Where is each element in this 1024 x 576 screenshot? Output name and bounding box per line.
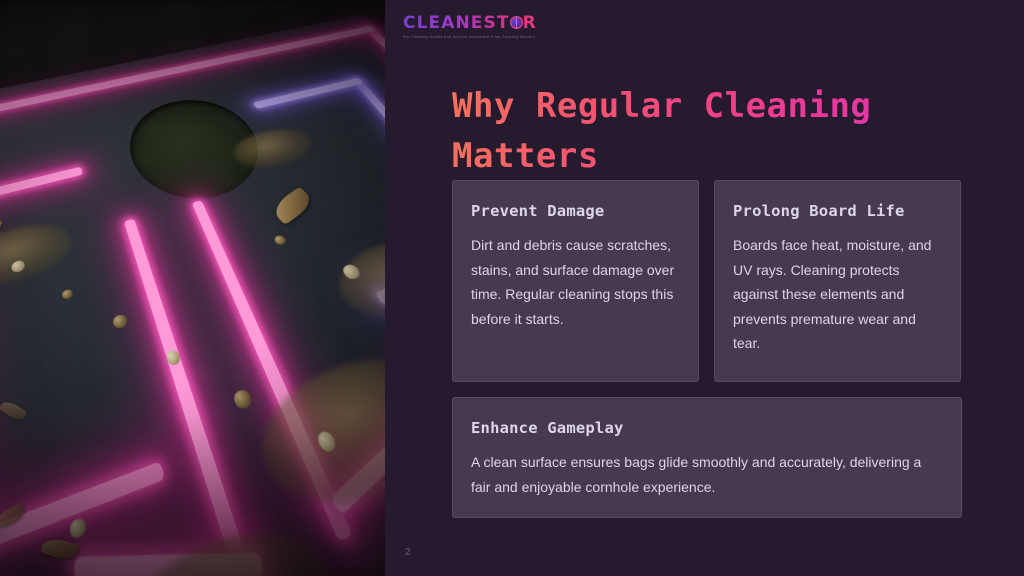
card-body: A clean surface ensures bags glide smoot… bbox=[471, 450, 943, 499]
card-prolong-board-life: Prolong Board Life Boards face heat, moi… bbox=[714, 180, 961, 382]
brand-tagline: Pro Cleaning Guides And Service Journali… bbox=[403, 35, 563, 39]
page-number: 2 bbox=[405, 547, 411, 558]
photo-cornhole-board bbox=[0, 14, 385, 576]
page-title: Why Regular Cleaning Matters bbox=[452, 81, 922, 181]
brand-logo-text-before: CLEANEST bbox=[403, 13, 510, 33]
photo-debris-speck bbox=[112, 313, 129, 330]
neon-strip-inner-right-top bbox=[253, 78, 364, 109]
content-panel: CLEANESTR Pro Cleaning Guides And Servic… bbox=[385, 0, 1024, 576]
card-heading: Prevent Damage bbox=[471, 201, 680, 221]
cards-row: Prevent Damage Dirt and debris cause scr… bbox=[452, 180, 962, 382]
photo-dirt-pile bbox=[0, 215, 77, 297]
card-body: Boards face heat, moisture, and UV rays.… bbox=[733, 233, 942, 356]
photo-debris-speck bbox=[69, 516, 88, 540]
slide: CLEANESTR Pro Cleaning Guides And Servic… bbox=[0, 0, 1024, 576]
card-prevent-damage: Prevent Damage Dirt and debris cause scr… bbox=[452, 180, 699, 382]
photo-leaf bbox=[269, 187, 317, 225]
neon-strip-inner-right-vertical bbox=[351, 78, 385, 260]
globe-icon bbox=[510, 16, 523, 29]
neon-strip-inner-left-bottom bbox=[0, 461, 165, 564]
photo-debris-speck bbox=[232, 388, 254, 411]
card-enhance-gameplay: Enhance Gameplay A clean surface ensures… bbox=[452, 397, 962, 518]
card-heading: Prolong Board Life bbox=[733, 201, 942, 221]
brand-logo-wordmark: CLEANESTR bbox=[403, 14, 563, 33]
card-body: Dirt and debris cause scratches, stains,… bbox=[471, 233, 680, 331]
brand-logo[interactable]: CLEANESTR Pro Cleaning Guides And Servic… bbox=[403, 14, 563, 39]
photo-dirt-pile bbox=[323, 227, 385, 333]
photo-debris-speck bbox=[273, 234, 288, 246]
neon-strip-inner-left-top bbox=[0, 167, 83, 210]
brand-logo-text-after: R bbox=[523, 13, 537, 33]
hero-photo bbox=[0, 0, 385, 576]
photo-debris-speck bbox=[61, 288, 73, 300]
card-heading: Enhance Gameplay bbox=[471, 418, 943, 438]
